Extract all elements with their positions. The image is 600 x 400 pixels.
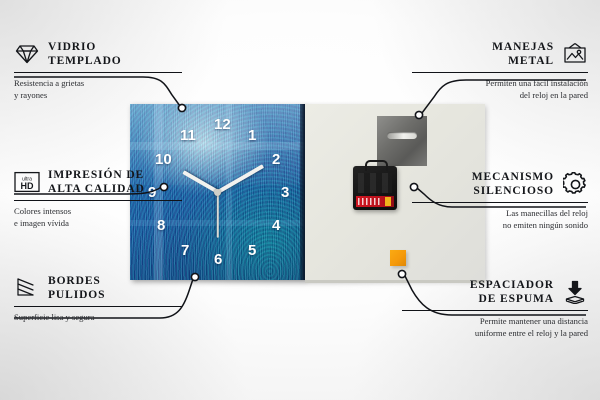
foam-spacer — [390, 250, 406, 266]
feature-header: BORDES PULIDOS — [14, 274, 182, 302]
feature-divider — [412, 72, 588, 73]
feature-desc-line1: Colores intensos — [14, 206, 71, 216]
feature-title: BORDES PULIDOS — [48, 274, 105, 302]
down-arrow-spacer-icon — [562, 279, 588, 305]
feature-vidrio-templado: VIDRIO TEMPLADO Resistencia a grietas y … — [14, 40, 182, 101]
clock-numeral-3: 3 — [281, 185, 289, 200]
svg-text:HD: HD — [21, 181, 34, 191]
feature-title: MECANISMO SILENCIOSO — [472, 170, 554, 198]
feature-divider — [14, 72, 182, 73]
feature-description: Superficie lisa y segura — [14, 311, 182, 323]
mechanism-hook — [365, 160, 388, 171]
feature-description: Permiten una fácil instalación del reloj… — [412, 77, 588, 101]
feature-impresion-alta-calidad: ultra HD IMPRESIÓN DE ALTA CALIDAD Color… — [14, 168, 182, 229]
clock-hand-cap — [214, 189, 221, 196]
clock-second-hand — [217, 192, 219, 238]
feature-divider — [402, 310, 588, 311]
feature-title: ESPACIADOR DE ESPUMA — [470, 278, 554, 306]
feature-description: Resistencia a grietas y rayones — [14, 77, 182, 101]
feature-desc-line1: Superficie lisa y segura — [14, 312, 94, 322]
feature-espaciador-espuma: ESPACIADOR DE ESPUMA Permite mantener un… — [402, 278, 588, 339]
hanger-slot — [387, 132, 417, 139]
feature-desc-line2: y rayones — [14, 90, 47, 100]
mechanism-label — [356, 196, 394, 207]
clock-numeral-12: 12 — [214, 117, 231, 132]
clock-numeral-4: 4 — [272, 218, 280, 233]
feature-header: ultra HD IMPRESIÓN DE ALTA CALIDAD — [14, 168, 182, 196]
feature-divider — [14, 306, 182, 307]
ultra-hd-icon: ultra HD — [14, 169, 40, 195]
feature-title: IMPRESIÓN DE ALTA CALIDAD — [48, 168, 145, 196]
clock-numeral-5: 5 — [248, 243, 256, 258]
feature-desc-line2: no emiten ningún sonido — [503, 220, 588, 230]
diamond-icon — [14, 41, 40, 67]
feature-title-line1: MECANISMO — [472, 171, 554, 183]
feature-divider — [412, 202, 588, 203]
infographic-canvas: 12 1 2 3 4 5 6 7 8 9 10 11 — [0, 0, 600, 400]
clock-mechanism — [353, 166, 397, 210]
feature-title-line1: MANEJAS — [492, 41, 554, 53]
feature-description: Las manecillas del reloj no emiten ningú… — [412, 207, 588, 231]
feature-desc-line1: Permiten una fácil instalación — [486, 78, 588, 88]
clock-numeral-10: 10 — [155, 152, 172, 167]
feature-desc-line2: uniforme entre el reloj y la pared — [475, 328, 588, 338]
feature-title-line2: ALTA CALIDAD — [48, 183, 145, 195]
feature-header: MECANISMO SILENCIOSO — [412, 170, 588, 198]
clock-numeral-11: 11 — [180, 128, 196, 143]
clock-numeral-6: 6 — [214, 252, 222, 267]
feature-header: MANEJAS METAL — [412, 40, 588, 68]
gear-icon — [562, 171, 588, 197]
feature-divider — [14, 200, 182, 201]
polished-edges-icon — [14, 275, 40, 301]
feature-title: MANEJAS METAL — [492, 40, 554, 68]
feature-desc-line2: e imagen vívida — [14, 218, 69, 228]
feature-title-line1: BORDES — [48, 275, 101, 287]
feature-title-line1: ESPACIADOR — [470, 279, 554, 291]
feature-desc-line1: Permite mantener una distancia — [480, 316, 588, 326]
feature-mecanismo-silencioso: MECANISMO SILENCIOSO Las manecillas del … — [412, 170, 588, 231]
feature-title: VIDRIO TEMPLADO — [48, 40, 122, 68]
feature-title-line2: DE ESPUMA — [478, 293, 554, 305]
feature-header: VIDRIO TEMPLADO — [14, 40, 182, 68]
feature-title-line2: TEMPLADO — [48, 55, 122, 67]
feature-desc-line1: Las manecillas del reloj — [506, 208, 588, 218]
feature-description: Colores intensos e imagen vívida — [14, 205, 182, 229]
feature-desc-line2: del reloj en la pared — [520, 90, 588, 100]
mechanism-body — [358, 173, 392, 193]
feature-title-line2: SILENCIOSO — [473, 185, 554, 197]
feature-description: Permite mantener una distancia uniforme … — [402, 315, 588, 339]
feature-bordes-pulidos: BORDES PULIDOS Superficie lisa y segura — [14, 274, 182, 323]
clock-numeral-2: 2 — [272, 152, 280, 167]
feature-title-line2: PULIDOS — [48, 289, 105, 301]
feature-manejas-metal: MANEJAS METAL Permiten una fácil instala… — [412, 40, 588, 101]
wall-frame-hanger-icon — [562, 41, 588, 67]
clock-numeral-7: 7 — [181, 243, 189, 258]
feature-desc-line1: Resistencia a grietas — [14, 78, 84, 88]
feature-header: ESPACIADOR DE ESPUMA — [402, 278, 588, 306]
mechanism-label-ticks — [358, 198, 382, 205]
feature-title-line1: VIDRIO — [48, 41, 96, 53]
feature-title-line2: METAL — [508, 55, 554, 67]
clock-numeral-1: 1 — [248, 128, 256, 143]
mechanism-label-badge — [385, 197, 391, 206]
metal-hanger-plate — [377, 116, 427, 166]
feature-title-line1: IMPRESIÓN DE — [48, 169, 144, 181]
